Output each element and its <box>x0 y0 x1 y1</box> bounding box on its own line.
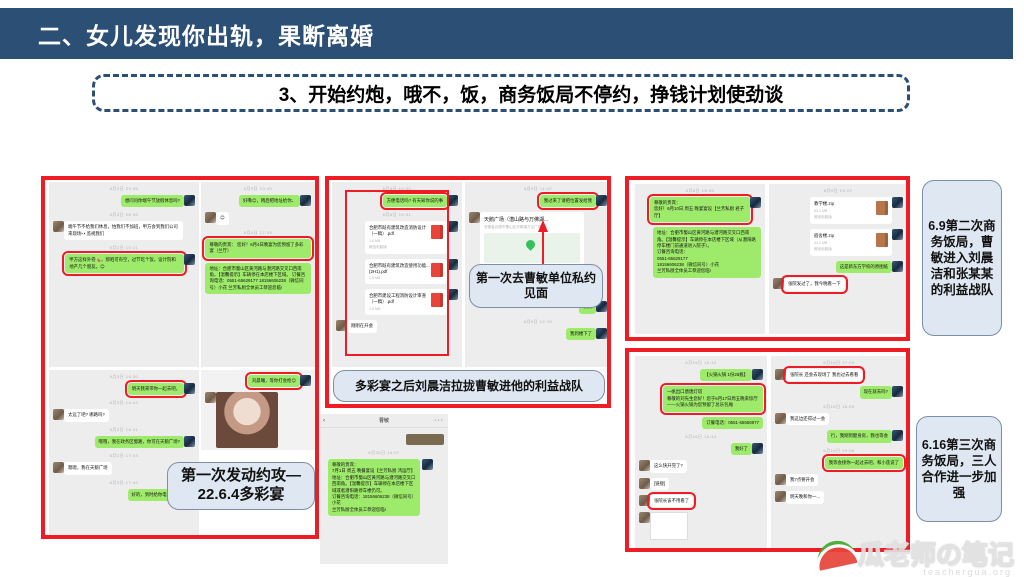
contact-name: 曹敏 <box>379 417 389 424</box>
slide-header: 二、女儿发现你出轨，果断离婚 <box>0 8 1013 59</box>
timestamp: 6月3日 16:31 <box>49 427 199 433</box>
avatar <box>596 328 607 339</box>
avatar <box>752 369 763 380</box>
chat-bubble-highlighted: 张院长 还会去现场了 我也过去看看 <box>786 369 862 381</box>
chat-bubble-highlighted: 一帆出口唐唐灯塔 尊敬的刘先生您好！您于6月17日周五晚来惊厅——火锅火锅为您预… <box>663 386 763 411</box>
avatar <box>336 320 347 331</box>
timestamp: 6月16日 16:43 <box>635 434 767 440</box>
pdf-file-icon <box>431 293 443 307</box>
chat-message-row: 我到楼下了 <box>469 328 607 340</box>
callout-text: 6.16第三次商务饭局，三人合作进一步加强 <box>920 437 998 501</box>
chat-message-row: 甲方这样外卷🍗，那咱可有空，过节吃个饭，设计院和地产几个朋友。😊 <box>53 254 195 273</box>
chat-bubble-highlighted: 张院长该不用看了 <box>650 495 693 507</box>
subtitle-text: 3、开始约炮，哦不，饭，商务饭局不停约，挣钱计划使劲谈 <box>219 80 784 107</box>
avatar <box>775 369 786 380</box>
timestamp: 6月4日 17:05 <box>201 230 315 236</box>
chat-message-row <box>639 512 763 540</box>
avatar <box>892 229 903 240</box>
chat-message-row: 一帆出口唐唐灯塔 尊敬的刘先生您好！您于6月17日周五晚来惊厅——火锅火锅为您预… <box>639 386 763 411</box>
timestamp: 6月9日 12:19 <box>465 319 611 325</box>
back-icon[interactable]: ‹ <box>323 418 325 424</box>
chat-bubble: 😊 <box>216 212 229 224</box>
file-size: 3.6 MB <box>369 307 431 311</box>
chat-column-1d: 刘晨曦，等你打会枪😊 <box>201 370 315 450</box>
chat-bubble: 地址：合肥市蜀山区黄河路与潜河路交叉口西南角，【温馨提示】车辆停在本店楼下区域。… <box>205 263 311 295</box>
avatar <box>892 386 903 397</box>
chat-bubble-highlighted: 刘晨曦，等你打会枪😊 <box>248 375 300 387</box>
chat-bubble-highlighted: 方便电话吗? 有天知你说的事 <box>383 195 447 207</box>
chat-message-row: 我好了 <box>639 443 763 455</box>
chat-column-3a: 6月8日 16:05 尊敬的贵宾： 您好！6月10日 周五 晚宴宴设【兰芳私厨 … <box>635 184 765 334</box>
timestamp: 6月3日 17:04 <box>49 453 199 459</box>
avatar <box>184 254 195 265</box>
chat-message-row: 明天我来带你一起去吧。 <box>53 383 195 395</box>
page-title: 二、女儿发现你出轨，果断离婚 <box>38 17 374 51</box>
avatar <box>775 413 786 424</box>
chat-file-row: 合肥市既有建筑改造消防设计（一稿）.pdf 1.6 MB 微信电脑版 <box>336 221 458 254</box>
timestamp: 6月16日 17:03 <box>771 360 907 366</box>
avatar <box>469 212 480 223</box>
timestamp: 6月3日 14:44 <box>49 400 199 406</box>
avatar <box>773 278 784 289</box>
chat-bubble: 我好了 <box>731 443 752 455</box>
file-card[interactable]: 合肥市建设工程消防设计审查（一稿）.pdf 3.6 MB <box>365 289 447 315</box>
avatar <box>300 375 311 386</box>
avatar <box>639 460 650 471</box>
chat-bubble: 哦哦，我在政务区蜀路，你可在天鹅广场? <box>95 436 184 448</box>
chat-bubble: 端午节不给我们休息，怕我们不加班，甲方会到我们公司来现场👀监视我们 <box>64 221 183 240</box>
pdf-file-icon <box>431 225 443 239</box>
chat-bubble: 想问问你端午节放假休息吗? <box>121 195 184 207</box>
more-options-icon[interactable]: ··· <box>434 417 444 424</box>
zip-file-icon <box>876 201 888 215</box>
chat-column-2a: 6月8日 10:00 方便电话吗? 有天知你说的事 6月8日 10:01 合肥市… <box>332 182 462 367</box>
chat-bubble-highlighted: 尊敬的贵宾： 您好！6月4日晚宴为您预留了多彩宴（兰厅） <box>205 239 311 258</box>
callout-panel2-bottom: 多彩宴之后刘晨洁拉拢曹敏进他的利益战队 <box>333 370 605 402</box>
chat-message-row: 想问问你端午节放假休息吗? <box>53 195 195 207</box>
avatar <box>750 197 761 208</box>
file-name: 合肥市建设工程消防设计审查（一稿）.pdf <box>369 293 431 305</box>
callout-panel4: 6.16第三次商务饭局，三人合作进一步加强 <box>916 416 1002 522</box>
chat-column-3b: 6月9日 09:22 教学楼.zip 63.1 MB 微信电脑版 宿舍楼.zip… <box>769 184 907 334</box>
chat-bubble-highlighted: 我等会接你一起过去吧，和小莲说了 <box>825 457 903 469</box>
chat-bubble: 地址：合肥市蜀山区黄河路与潜河路交叉口西南角。【温馨提示】车辆停在本店楼下区域（… <box>653 227 761 278</box>
file-source: 微信电脑版 <box>369 245 431 250</box>
chat-bubble: 太远了吧? 哪路吗? <box>64 409 109 421</box>
file-card[interactable]: 合肥市既有建筑改造使用功能...(2H1).pdf 1.8 MB <box>365 259 447 284</box>
wechat-screenshot-panel-1: 6月2日 23:46 想问问你端午节放假休息吗? 6月3日 08:46 端午节不… <box>41 176 319 539</box>
avatar <box>205 212 216 223</box>
avatar <box>775 491 786 502</box>
avatar <box>892 430 903 441</box>
chat-message-row: 现在就去吗? <box>775 386 903 398</box>
chat-message-row: 尊敬的贵宾： 您好！6月4日晚宴为您预留了多彩宴（兰厅） <box>205 239 311 258</box>
chat-message-row: 这么快开完了? <box>639 460 763 472</box>
wechat-screenshot-panel-3: 6月8日 16:05 尊敬的贵宾： 您好！6月10日 周五 晚宴宴设【兰芳私厨 … <box>625 176 910 341</box>
chat-bubble-highlighted: 我过来了请把位置发给我 <box>540 195 596 207</box>
callout-text: 6.9第二次商务饭局，曹敏进入刘晨洁和张某某的利益战队 <box>926 218 998 298</box>
avatar <box>447 195 458 206</box>
chat-bubble: 订餐电话：0551-65556977 <box>702 417 763 429</box>
wechat-sub-chat-panel-2: ‹ 曹敏 ··· 6月30日 16:07 尊敬的贵宾： 7月1日 周五 晚餐宴设… <box>320 414 448 564</box>
timestamp: 6月30日 16:07 <box>320 450 448 456</box>
chat-message-row: 【火锅火锅 1份25瓶】 <box>639 369 763 381</box>
chat-column-1c: 6月3日 14:30 明天我来带你一起去吧。 6月3日 14:44 太远了吧? … <box>49 370 199 538</box>
callout-text: 第一次去曹敏单位私约见面 <box>476 271 596 301</box>
chat-bubble: [链接] <box>650 478 669 490</box>
chat-bubble: 尊敬的贵宾： 7月1日 周五 晚餐宴设【兰芳私厨 鸿运厅】 地址：合肥市蜀山区黄… <box>328 459 420 516</box>
avatar <box>447 289 458 300</box>
chat-message-row: 张院发过了，我今晚看一下 <box>773 278 903 290</box>
avatar <box>596 195 607 206</box>
chat-message-row: 尊敬的贵宾： 7月1日 周五 晚餐宴设【兰芳私厨 鸿运厅】 地址：合肥市蜀山区黄… <box>328 459 444 516</box>
avatar <box>639 478 650 489</box>
chat-bubble: 我这边还得过一会 <box>786 413 829 425</box>
file-size: 1.6 MB <box>369 239 431 243</box>
chat-message-row: 😊 <box>205 212 311 224</box>
file-name: 宿舍楼.zip <box>814 233 834 239</box>
callout-text: 第一次发动约攻—22.6.4多彩宴 <box>174 467 308 505</box>
timestamp: 6月8日 16:05 <box>635 188 765 194</box>
timestamp: 6月8日 10:01 <box>332 212 462 218</box>
chat-message-row: 我过来了请把位置发给我 <box>469 195 607 207</box>
timestamp: 6月16日 16:42 <box>635 360 767 366</box>
chat-bubble: 明天晚和你一... <box>786 491 824 503</box>
zip-file-icon <box>876 233 888 247</box>
chat-message-row: 我等会接你一起过去吧，和小莲说了 <box>775 457 903 469</box>
chat-column-4a: 6月16日 16:42 【火锅火锅 1份25瓶】 一帆出口唐唐灯塔 尊敬的刘先生… <box>635 356 767 548</box>
chat-bubble: 这么快开完了? <box>650 460 687 472</box>
avatar <box>184 195 195 206</box>
avatar <box>892 261 903 272</box>
chat-bubble-highlighted: 甲方这样外卷🍗，那咱可有空，过节吃个饭，设计院和地产几个朋友。😊 <box>65 254 184 273</box>
timestamp: 6月16日 19:06 <box>771 448 907 454</box>
chat-column-1a: 6月2日 23:46 想问问你端午节放假休息吗? 6月3日 08:46 端午节不… <box>49 182 199 367</box>
chat-message-row: 张院长该不用看了 <box>639 495 763 507</box>
avatar <box>184 383 195 394</box>
chat-header-bar: ‹ 曹敏 ··· <box>320 414 448 428</box>
chat-bubble: 刚刚在开会 <box>347 320 377 332</box>
header-underline <box>0 59 1013 62</box>
chat-message-row: 方便电话吗? 有天知你说的事 <box>336 195 458 207</box>
chat-file-row: 宿舍楼.zip 44.2 MB 微信电脑版 <box>773 229 903 256</box>
chat-bubble-highlighted: 明天我来带你一起去吧。 <box>128 383 184 395</box>
chat-bubble: 这是新东方学校的原图纸 <box>836 261 892 273</box>
chat-message-row: 这是新东方学校的原图纸 <box>773 261 903 273</box>
avatar <box>447 259 458 270</box>
file-card[interactable]: 合肥市既有建筑改造消防设计（一稿）.pdf 1.6 MB 微信电脑版 <box>365 221 447 254</box>
chat-message-row: 地址：合肥市蜀山区黄河路与潜河路交叉口西南角。【温馨提示】车辆停在本店楼下区域（… <box>639 227 761 278</box>
chat-bubble: 我7点要开会 <box>786 474 818 486</box>
chat-message-row <box>205 392 311 448</box>
chat-bubble: 现在就去吗? <box>860 386 892 398</box>
chat-file-row: 合肥市既有建筑改造使用功能...(2H1).pdf 1.8 MB <box>336 259 458 284</box>
timestamp: 6月3日 10:40 <box>201 186 315 192</box>
file-name: 教学楼.zip <box>814 201 834 207</box>
subtitle-dashed-box: 3、开始约炮，哦不，饭，商务饭局不停约，挣钱计划使劲谈 <box>92 74 910 112</box>
avatar <box>184 436 195 447</box>
redacted-bubble <box>406 434 444 445</box>
timestamp: 6月8日 10:00 <box>332 186 462 192</box>
avatar <box>53 462 64 473</box>
chat-message-row: 明天晚和你一... <box>775 491 903 503</box>
location-subtitle: 安徽省合肥市蜀山区天鹅湖万达广场 <box>484 225 580 230</box>
callout-panel1: 第一次发动约攻—22.6.4多彩宴 <box>167 462 315 510</box>
chat-file-row: 教学楼.zip 63.1 MB 微信电脑版 <box>773 197 903 224</box>
chat-column-1b: 6月3日 10:40 好嘞😊，稍后把地址给你、 😊 6月4日 17:05 尊敬的… <box>201 182 315 367</box>
file-source: 微信电脑版 <box>814 247 834 252</box>
chat-column-4b: 6月16日 17:03 张院长 还会去现场了 我也过去看看 现在就去吗? 6月1… <box>771 356 907 548</box>
chat-message-row: 我7点要开会 <box>775 474 903 486</box>
pdf-file-icon <box>431 263 443 277</box>
wechat-screenshot-panel-2-callout-frame: 多彩宴之后刘晨洁拉拢曹敏进他的利益战队 <box>325 368 611 408</box>
sticker-image <box>216 392 278 448</box>
callout-panel2-top: 第一次去曹敏单位私约见面 <box>469 264 603 308</box>
file-name: 合肥市既有建筑改造使用功能...(2H1).pdf <box>369 263 431 274</box>
chat-bubble: 【火锅火锅 1份25瓶】 <box>700 369 752 381</box>
chat-bubble: 嗯嗯，我在天鹅广场 <box>64 462 112 474</box>
chat-message-row: 我这边还得过一会 <box>775 413 903 425</box>
file-card[interactable]: 宿舍楼.zip 44.2 MB 微信电脑版 <box>810 229 892 256</box>
avatar <box>892 197 903 208</box>
chat-message-row <box>324 434 444 445</box>
callout-text: 多彩宴之后刘晨洁拉拢曹敏进他的利益战队 <box>355 379 583 394</box>
avatar <box>639 495 650 506</box>
file-source: 微信电脑版 <box>814 215 834 220</box>
chat-message-row: 尊敬的贵宾： 您好！6月10日 周五 晚宴宴设【兰芳私厨 君子厅】 <box>639 197 761 222</box>
chat-message-row: 行，我刚到健身房，我也等会 <box>775 430 903 442</box>
chat-bubble: 好嘞😊，稍后把地址给你、 <box>239 195 300 207</box>
chat-bubble: 我到楼下了 <box>566 328 596 340</box>
timestamp: 6月3日 08:46 <box>49 212 199 218</box>
chat-message-row: 好嘞😊，稍后把地址给你、 <box>205 195 311 207</box>
chat-bubble: 行，我刚到健身房，我也等会 <box>827 430 892 442</box>
wechat-screenshot-panel-4: 6月16日 16:42 【火锅火锅 1份25瓶】 一帆出口唐唐灯塔 尊敬的刘先生… <box>625 348 910 552</box>
timestamp: 6月16日 18:05 <box>771 404 907 410</box>
avatar <box>775 474 786 485</box>
chat-message-row: [链接] <box>639 478 763 490</box>
timestamp: 6月3日 14:30 <box>49 374 199 380</box>
chat-message-row: 张院长 还会去现场了 我也过去看看 <box>775 369 903 381</box>
location-title: 天鹅广场（潜山路与万佛湖... <box>484 216 580 223</box>
avatar <box>752 443 763 454</box>
sticker-image <box>650 512 688 540</box>
map-thumbnail <box>484 233 580 263</box>
timestamp: 6月9日 11:02 <box>465 186 611 192</box>
timestamp: 6月2日 23:46 <box>49 186 199 192</box>
chat-file-row: 合肥市建设工程消防设计审查（一稿）.pdf 3.6 MB <box>336 289 458 315</box>
avatar <box>639 512 650 523</box>
chat-message-row: 端午节不给我们休息，怕我们不加班，甲方会到我们公司来现场👀监视我们 <box>53 221 195 240</box>
file-size: 44.2 MB <box>814 241 834 245</box>
chat-message-row: 刘晨曦，等你打会枪😊 <box>205 375 311 387</box>
map-pin-icon <box>524 239 537 252</box>
chat-message-row: 订餐电话：0551-65556977 <box>639 417 763 429</box>
file-name: 合肥市既有建筑改造消防设计（一稿）.pdf <box>369 225 431 237</box>
avatar <box>447 221 458 232</box>
avatar <box>53 221 64 232</box>
avatar <box>300 195 311 206</box>
chat-bubble-highlighted: 张院发过了，我今晚看一下 <box>784 278 845 290</box>
chat-message-row: 刚刚在开会 <box>336 320 458 332</box>
file-card[interactable]: 教学楼.zip 63.1 MB 微信电脑版 <box>810 197 892 224</box>
timestamp: 6月3日 10:21 <box>49 245 199 251</box>
callout-panel3: 6.9第二次商务饭局，曹敏进入刘晨洁和张某某的利益战队 <box>922 180 1002 336</box>
chat-message-row: 太远了吧? 哪路吗? <box>53 409 195 421</box>
avatar <box>53 409 64 420</box>
file-size: 63.1 MB <box>814 209 834 213</box>
file-size: 1.8 MB <box>369 276 431 280</box>
location-card[interactable]: 天鹅广场（潜山路与万佛湖... 安徽省合肥市蜀山区天鹅湖万达广场 <box>480 212 584 267</box>
avatar <box>205 392 216 403</box>
avatar <box>422 459 433 470</box>
chat-bubble-highlighted: 尊敬的贵宾： 您好！6月10日 周五 晚宴宴设【兰芳私厨 君子厅】 <box>650 197 750 222</box>
chat-message-row: 地址：合肥市蜀山区黄河路与潜河路交叉口西南角，【温馨提示】车辆停在本店楼下区域。… <box>205 263 311 295</box>
timestamp: 6月9日 09:22 <box>769 188 907 194</box>
chat-message-row: 哦哦，我在政务区蜀路，你可在天鹅广场? <box>53 436 195 448</box>
